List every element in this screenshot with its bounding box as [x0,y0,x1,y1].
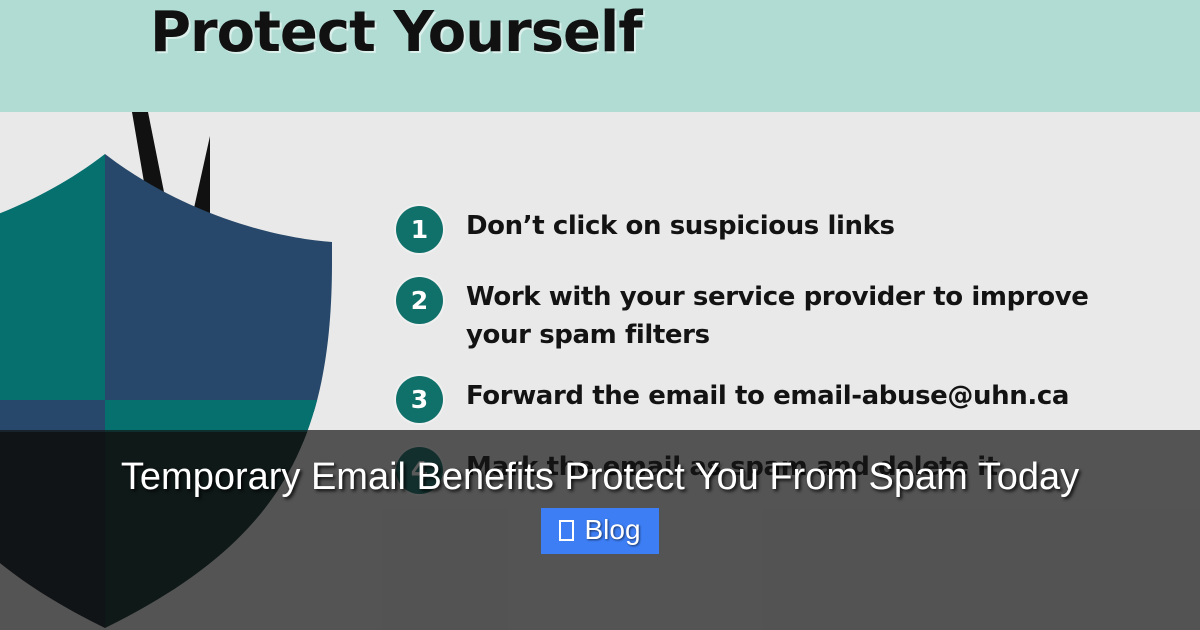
poster-canvas: Protect Yourself [0,0,1200,630]
poster-title: Protect Yourself [150,2,642,64]
tip-item: 3 Forward the email to email-abuse@uhn.c… [396,376,1136,423]
tip-text: Forward the email to email-abuse@uhn.ca [466,377,1069,415]
tip-number-badge: 3 [396,376,443,423]
tip-item: 1 Don’t click on suspicious links [396,206,1136,253]
tip-text: Work with your service provider to impro… [466,278,1136,354]
tip-number-badge: 2 [396,277,443,324]
tofu-box-icon [559,520,574,541]
blog-button-label: Blog [584,514,640,546]
tip-item: 2 Work with your service provider to imp… [396,277,1136,354]
overlay-headline: Temporary Email Benefits Protect You Fro… [40,454,1160,500]
tip-text: Don’t click on suspicious links [466,207,895,245]
blog-button[interactable]: Blog [541,508,658,554]
tip-number-badge: 1 [396,206,443,253]
overlay-content: Temporary Email Benefits Protect You Fro… [0,430,1200,630]
